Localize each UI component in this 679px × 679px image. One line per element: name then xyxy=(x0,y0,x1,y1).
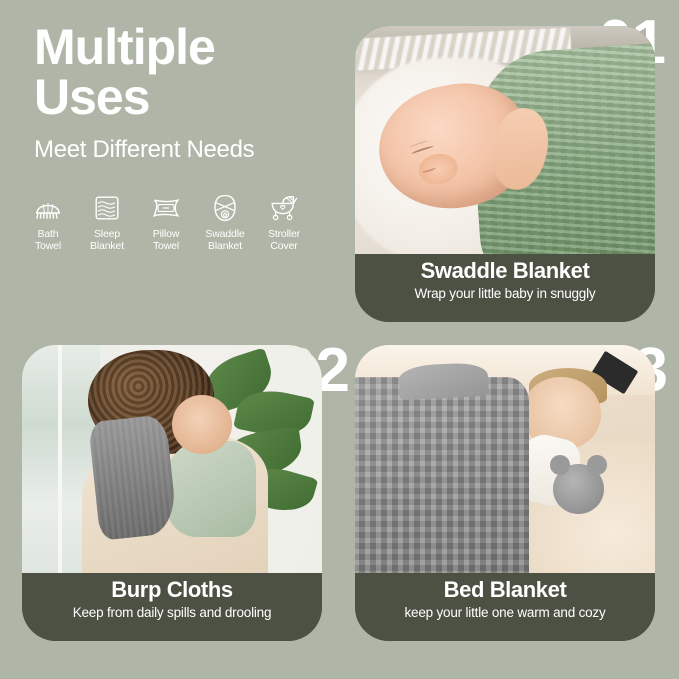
card-subtitle: Wrap your little baby in snuggly xyxy=(415,286,596,302)
card-caption-burp-cloths: Burp Cloths Keep from daily spills and d… xyxy=(22,573,322,641)
feature-label: Pillow Towel xyxy=(153,228,180,253)
feature-pillow-towel: Pillow Towel xyxy=(138,193,194,253)
card-title: Swaddle Blanket xyxy=(421,258,590,283)
product-card-swaddle-blanket[interactable]: Swaddle Blanket Wrap your little baby in… xyxy=(355,26,655,322)
feature-list: Bath Towel Sleep Blanket xyxy=(20,193,320,253)
pillow-towel-icon xyxy=(149,193,183,223)
sleep-blanket-icon xyxy=(90,193,124,223)
feature-label: Sleep Blanket xyxy=(90,228,124,253)
card-title: Burp Cloths xyxy=(111,577,232,602)
card-caption-swaddle-blanket: Swaddle Blanket Wrap your little baby in… xyxy=(355,254,655,322)
photo-illustration xyxy=(355,26,655,254)
page-subtitle: Meet Different Needs xyxy=(34,136,322,164)
swaddle-blanket-icon xyxy=(208,193,242,223)
intro-panel: Multiple Uses Meet Different Needs xyxy=(0,0,340,340)
card-title: Bed Blanket xyxy=(444,577,567,602)
feature-label: Swaddle Blanket xyxy=(205,228,244,253)
feature-label: Bath Towel xyxy=(35,228,61,253)
card-photo-burp-cloths xyxy=(22,345,322,573)
feature-stroller-cover: Stroller Cover xyxy=(256,193,312,253)
card-subtitle: keep your little one warm and cozy xyxy=(404,605,605,621)
card-photo-swaddle-blanket xyxy=(355,26,655,254)
photo-illustration xyxy=(22,345,322,573)
feature-bath-towel: Bath Towel xyxy=(20,193,76,253)
product-card-bed-blanket[interactable]: Bed Blanket keep your little one warm an… xyxy=(355,345,655,641)
photo-illustration xyxy=(355,345,655,573)
feature-sleep-blanket: Sleep Blanket xyxy=(79,193,135,253)
page-title: Multiple Uses xyxy=(34,22,322,122)
card-photo-bed-blanket xyxy=(355,345,655,573)
bath-towel-icon xyxy=(31,193,65,223)
stroller-cover-icon xyxy=(267,193,301,223)
card-caption-bed-blanket: Bed Blanket keep your little one warm an… xyxy=(355,573,655,641)
card-subtitle: Keep from daily spills and drooling xyxy=(73,605,272,621)
infographic-canvas: Multiple Uses Meet Different Needs Bath … xyxy=(0,0,679,679)
feature-label: Stroller Cover xyxy=(268,228,300,253)
feature-swaddle-blanket: Swaddle Blanket xyxy=(197,193,253,253)
product-card-burp-cloths[interactable]: Burp Cloths Keep from daily spills and d… xyxy=(22,345,322,641)
